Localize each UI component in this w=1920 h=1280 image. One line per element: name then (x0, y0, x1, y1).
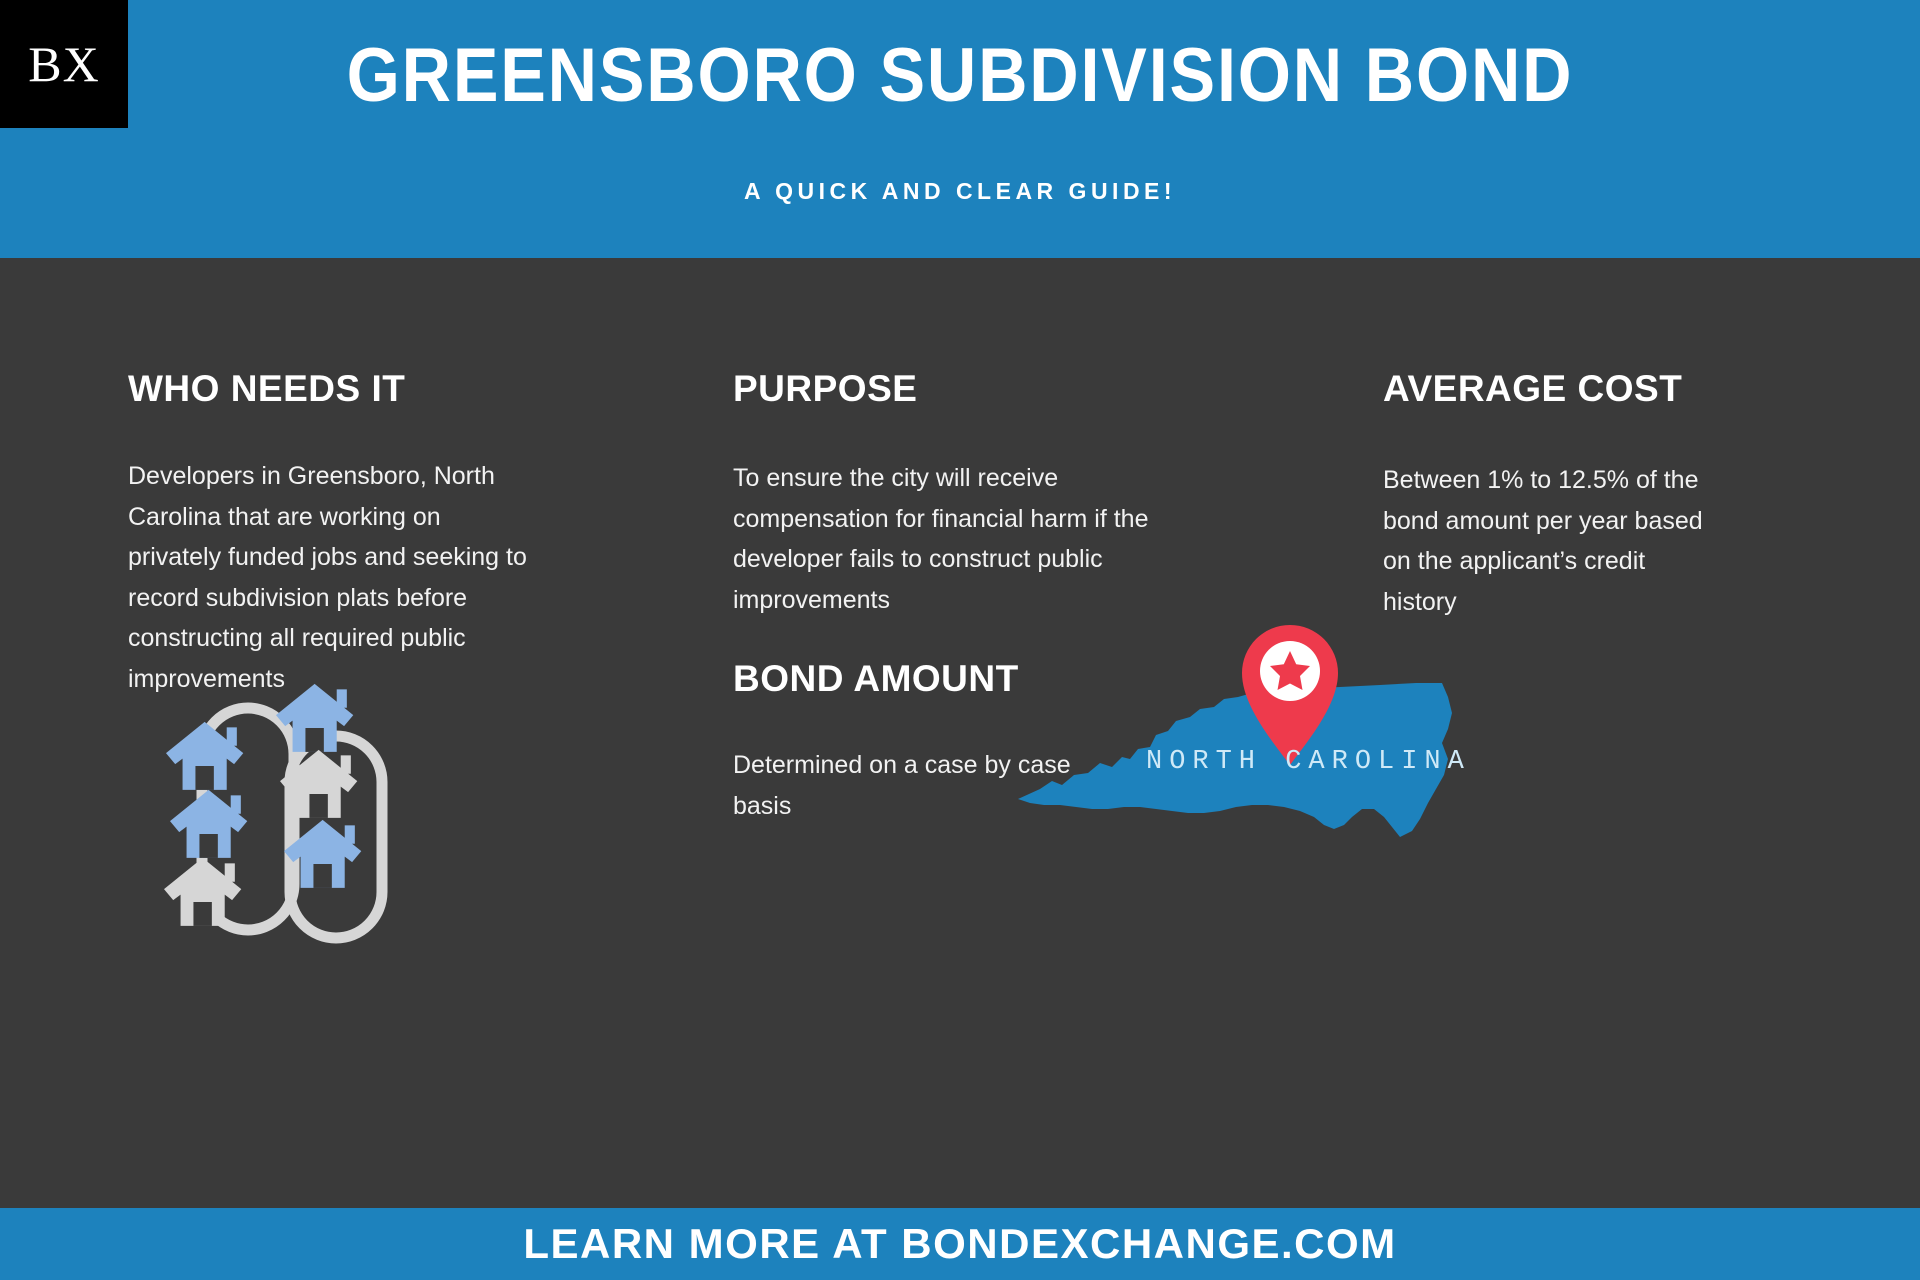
section-title-who-needs-it: WHO NEEDS IT (128, 368, 548, 410)
logo-text: BX (28, 39, 99, 89)
section-body-average-cost: Between 1% to 12.5% of the bond amount p… (1383, 460, 1723, 622)
column-purpose: PURPOSE To ensure the city will receive … (733, 258, 1213, 620)
page-title: GREENSBORO SUBDIVISION BOND (96, 36, 1824, 116)
section-title-average-cost: AVERAGE COST (1383, 368, 1783, 410)
section-body-purpose: To ensure the city will receive compensa… (733, 458, 1163, 620)
footer-cta-text: LEARN MORE AT BONDEXCHANGE.COM (523, 1220, 1396, 1268)
map-state-label: NORTH CAROLINA (1146, 747, 1471, 777)
content-area: WHO NEEDS IT Developers in Greensboro, N… (0, 258, 1920, 1208)
houses-road-icon (140, 670, 440, 950)
page-footer[interactable]: LEARN MORE AT BONDEXCHANGE.COM (0, 1208, 1920, 1280)
column-average-cost: AVERAGE COST Between 1% to 12.5% of the … (1383, 258, 1783, 622)
page-subtitle: A QUICK AND CLEAR GUIDE! (0, 178, 1920, 205)
section-title-purpose: PURPOSE (733, 368, 1213, 410)
section-body-who-needs-it: Developers in Greensboro, North Carolina… (128, 456, 528, 699)
column-who-needs-it: WHO NEEDS IT Developers in Greensboro, N… (128, 258, 548, 699)
page-header: BX GREENSBORO SUBDIVISION BOND A QUICK A… (0, 0, 1920, 258)
section-title-bond-amount: BOND AMOUNT (733, 658, 1019, 700)
